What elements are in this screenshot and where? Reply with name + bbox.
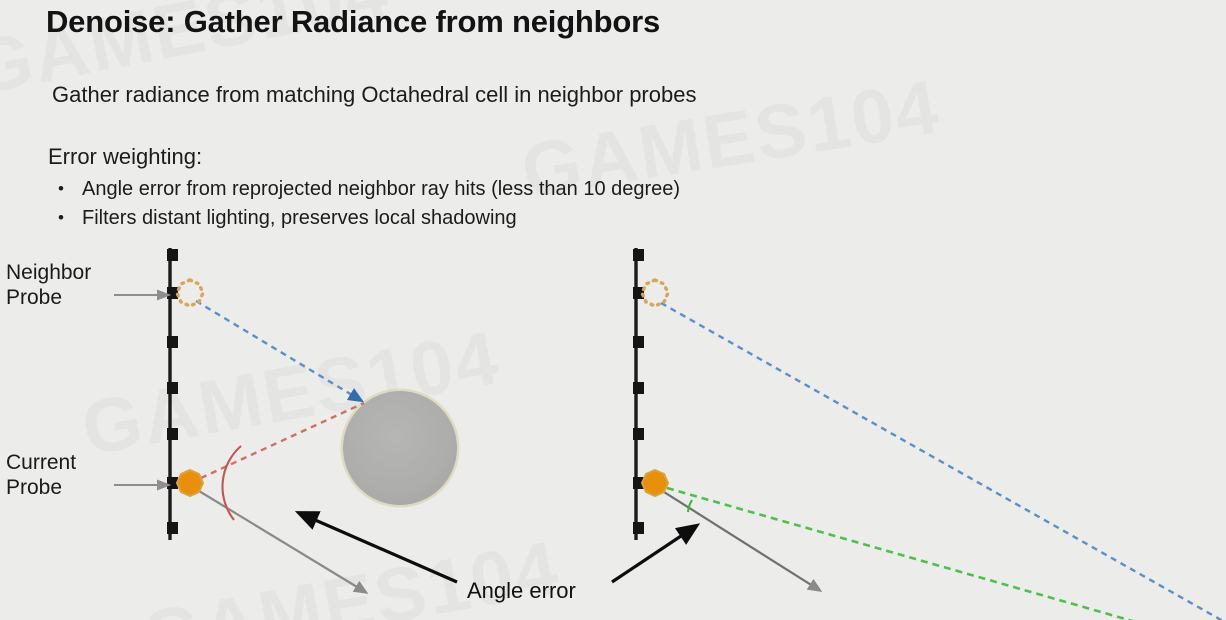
angle-error-right-arrow — [612, 530, 690, 582]
neighbor-probe-right — [642, 280, 668, 306]
matched-ray-green — [667, 488, 1150, 620]
wall-tick — [167, 428, 178, 440]
occluder-sphere — [341, 389, 460, 508]
neighbor-probe-left — [177, 280, 203, 306]
wall-tick — [633, 336, 644, 348]
current-ray-gray-right — [664, 492, 816, 588]
angle-error-label: Angle error — [467, 578, 576, 604]
wall-tick — [633, 249, 644, 261]
wall-tick — [167, 336, 178, 348]
probe-gather-diagram — [0, 0, 1226, 620]
current-probe-left — [177, 470, 203, 496]
wall-tick — [633, 522, 644, 534]
neighbor-ray-blue — [196, 301, 357, 398]
current-probe-label-line2: Probe — [6, 475, 76, 500]
left-panel — [114, 248, 460, 590]
current-ray-gray — [199, 491, 362, 590]
wall-tick — [167, 382, 178, 394]
slide-root: GAMES104 GAMES104 GAMES104 GAMES104 Deno… — [0, 0, 1226, 620]
right-panel — [633, 248, 1226, 620]
neighbor-ray-blue-right — [661, 303, 1226, 620]
wall-right — [633, 248, 644, 540]
neighbor-probe-label: Neighbor Probe — [6, 260, 91, 310]
neighbor-probe-label-line2: Probe — [6, 285, 91, 310]
wall-tick — [633, 382, 644, 394]
current-probe-right — [642, 470, 668, 496]
wall-tick — [167, 522, 178, 534]
current-probe-label-line1: Current — [6, 450, 76, 475]
wall-left — [167, 248, 178, 540]
wall-tick — [633, 428, 644, 440]
angle-error-left-arrow — [306, 516, 457, 582]
neighbor-probe-label-line1: Neighbor — [6, 260, 91, 285]
wall-tick — [167, 287, 178, 299]
angle-arc-red — [223, 446, 241, 520]
current-probe-label: Current Probe — [6, 450, 76, 500]
wall-tick — [167, 249, 178, 261]
